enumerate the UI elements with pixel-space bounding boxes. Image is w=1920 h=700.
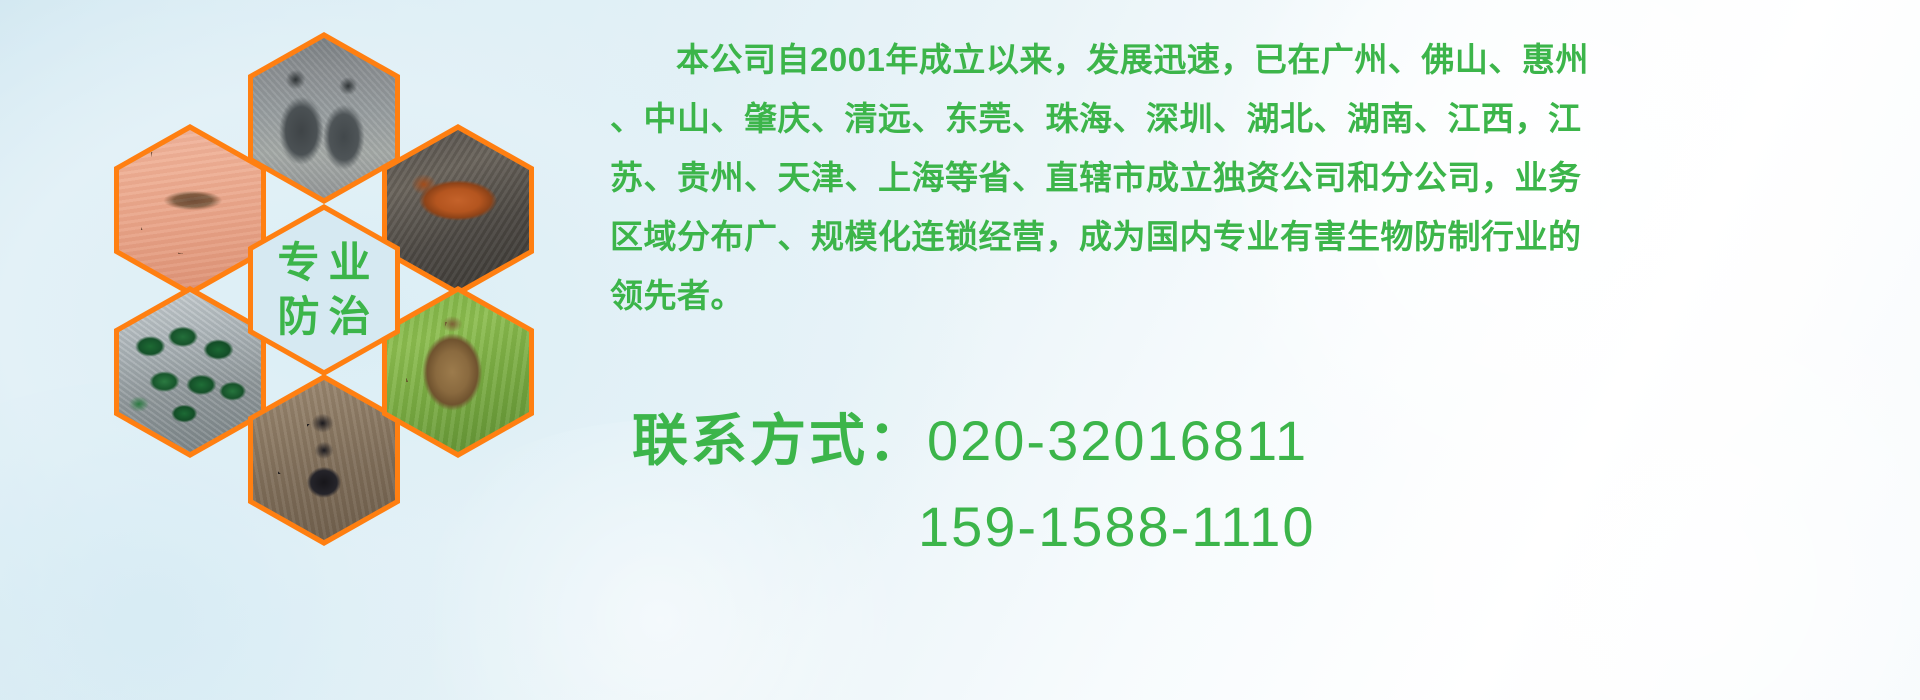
description-line-2: 、中山、肇庆、清远、东莞、珠海、深圳、湖北、湖南、江西，江 xyxy=(610,89,1900,148)
description-line-5: 领先者。 xyxy=(610,266,1900,325)
contact-primary-row: 联系方式：020-32016811 xyxy=(620,398,1890,484)
hex-cell-cockroach[interactable] xyxy=(382,124,534,296)
hex-cell-rats[interactable] xyxy=(248,32,400,204)
mosquito-photo xyxy=(119,130,261,290)
hex-cell-slogan: 专业 防治 xyxy=(248,204,400,376)
rats-photo xyxy=(253,38,395,198)
slogan-line-1: 专业 xyxy=(268,236,379,290)
contact-secondary-row: 159-1588-1110 xyxy=(620,484,1890,570)
description-line-4: 区域分布广、规模化连锁经营，成为国内专业有害生物防制行业的 xyxy=(610,207,1900,266)
banner-content: 本公司自2001年成立以来，发展迅速，已在广州、佛山、惠州 、中山、肇庆、清远、… xyxy=(610,0,1900,700)
hex-cell-ant[interactable] xyxy=(248,374,400,546)
contact-phone-secondary[interactable]: 159-1588-1110 xyxy=(918,495,1316,558)
cockroach-photo xyxy=(387,130,529,290)
contact-label: 联系方式： xyxy=(632,409,927,472)
description-line-1: 本公司自2001年成立以来，发展迅速，已在广州、佛山、惠州 xyxy=(610,30,1900,89)
hex-cell-mosquito[interactable] xyxy=(114,124,266,296)
flies-photo xyxy=(119,292,261,452)
promo-banner: 专业 防治 本公司自2001年成立以来，发展迅速，已在广州、佛山、惠州 、中山、… xyxy=(0,0,1920,700)
honeycomb-photo-collage: 专业 防治 xyxy=(96,14,596,574)
company-description: 本公司自2001年成立以来，发展迅速，已在广州、佛山、惠州 、中山、肇庆、清远、… xyxy=(610,30,1900,325)
stink-bug-photo xyxy=(387,292,529,452)
contact-info: 联系方式：020-32016811 159-1588-1110 xyxy=(620,398,1890,570)
description-line-3: 苏、贵州、天津、上海等省、直辖市成立独资公司和分公司，业务 xyxy=(610,148,1900,207)
ant-photo xyxy=(253,380,395,540)
hex-cell-flies[interactable] xyxy=(114,286,266,458)
hex-cell-stink-bug[interactable] xyxy=(382,286,534,458)
contact-phone-primary[interactable]: 020-32016811 xyxy=(927,409,1308,472)
slogan-line-2: 防治 xyxy=(268,290,379,344)
